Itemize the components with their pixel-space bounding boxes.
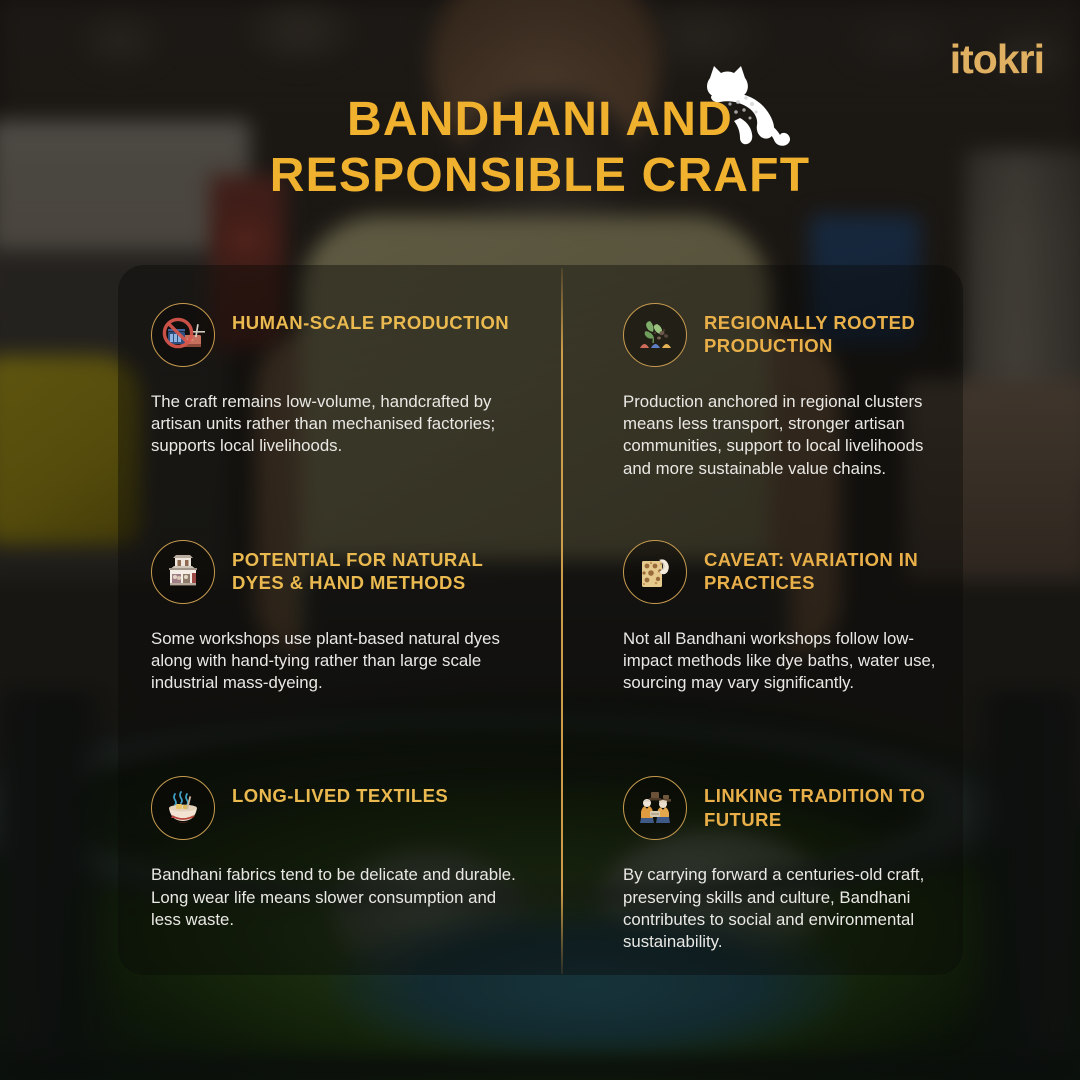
page-title-line-1: BANDHANI AND bbox=[0, 92, 1080, 148]
feature-body: Bandhani fabrics tend to be delicate and… bbox=[151, 864, 527, 931]
features-grid: HUMAN-SCALE PRODUCTION The craft remains… bbox=[118, 265, 963, 975]
feature-title: REGIONALLY ROOTED PRODUCTION bbox=[704, 303, 947, 358]
feature-body: Some workshops use plant-based natural d… bbox=[151, 628, 527, 695]
feature-item-caveat-variation-in-practices: CAVEAT: VARIATION IN PRACTICES Not all B… bbox=[561, 502, 963, 739]
feature-item-human-scale-production: HUMAN-SCALE PRODUCTION The craft remains… bbox=[118, 265, 561, 502]
feature-header: REGIONALLY ROOTED PRODUCTION bbox=[623, 303, 947, 367]
feature-item-natural-dyes-hand-methods: POTENTIAL FOR NATURAL DYES & HAND METHOD… bbox=[118, 502, 561, 739]
feature-body: The craft remains low-volume, handcrafte… bbox=[151, 391, 527, 458]
hand-holding-patterned-fabric-icon bbox=[623, 540, 687, 604]
two-artisans-icon bbox=[623, 776, 687, 840]
brand-logo[interactable]: itokri bbox=[950, 36, 1044, 83]
brand-logo-text: itokri bbox=[950, 36, 1044, 83]
feature-body: Production anchored in regional clusters… bbox=[623, 391, 947, 480]
feature-title: HUMAN-SCALE PRODUCTION bbox=[232, 303, 509, 334]
feature-header: CAVEAT: VARIATION IN PRACTICES bbox=[623, 540, 947, 604]
page-title: BANDHANI AND RESPONSIBLE CRAFT bbox=[0, 92, 1080, 204]
feature-item-regionally-rooted-production: REGIONALLY ROOTED PRODUCTION Production … bbox=[561, 265, 963, 502]
feature-body: By carrying forward a centuries-old craf… bbox=[623, 864, 947, 953]
feature-header: POTENTIAL FOR NATURAL DYES & HAND METHOD… bbox=[151, 540, 527, 604]
artisan-workshop-building-icon bbox=[151, 540, 215, 604]
plant-dye-leaves-icon bbox=[623, 303, 687, 367]
feature-title: CAVEAT: VARIATION IN PRACTICES bbox=[704, 540, 947, 595]
feature-body: Not all Bandhani workshops follow low-im… bbox=[623, 628, 947, 695]
page-title-line-2: RESPONSIBLE CRAFT bbox=[0, 148, 1080, 204]
no-factory-machine-icon bbox=[151, 303, 215, 367]
feature-header: LONG-LIVED TEXTILES bbox=[151, 776, 527, 840]
feature-item-long-lived-textiles: LONG-LIVED TEXTILES Bandhani fabrics ten… bbox=[118, 738, 561, 975]
feature-title: LONG-LIVED TEXTILES bbox=[232, 776, 448, 807]
feature-title: POTENTIAL FOR NATURAL DYES & HAND METHOD… bbox=[232, 540, 527, 595]
feature-item-linking-tradition-to-future: LINKING TRADITION TO FUTURE By carrying … bbox=[561, 738, 963, 975]
feature-header: LINKING TRADITION TO FUTURE bbox=[623, 776, 947, 840]
feature-title: LINKING TRADITION TO FUTURE bbox=[704, 776, 947, 831]
steaming-dye-pot-icon bbox=[151, 776, 215, 840]
feature-header: HUMAN-SCALE PRODUCTION bbox=[151, 303, 527, 367]
